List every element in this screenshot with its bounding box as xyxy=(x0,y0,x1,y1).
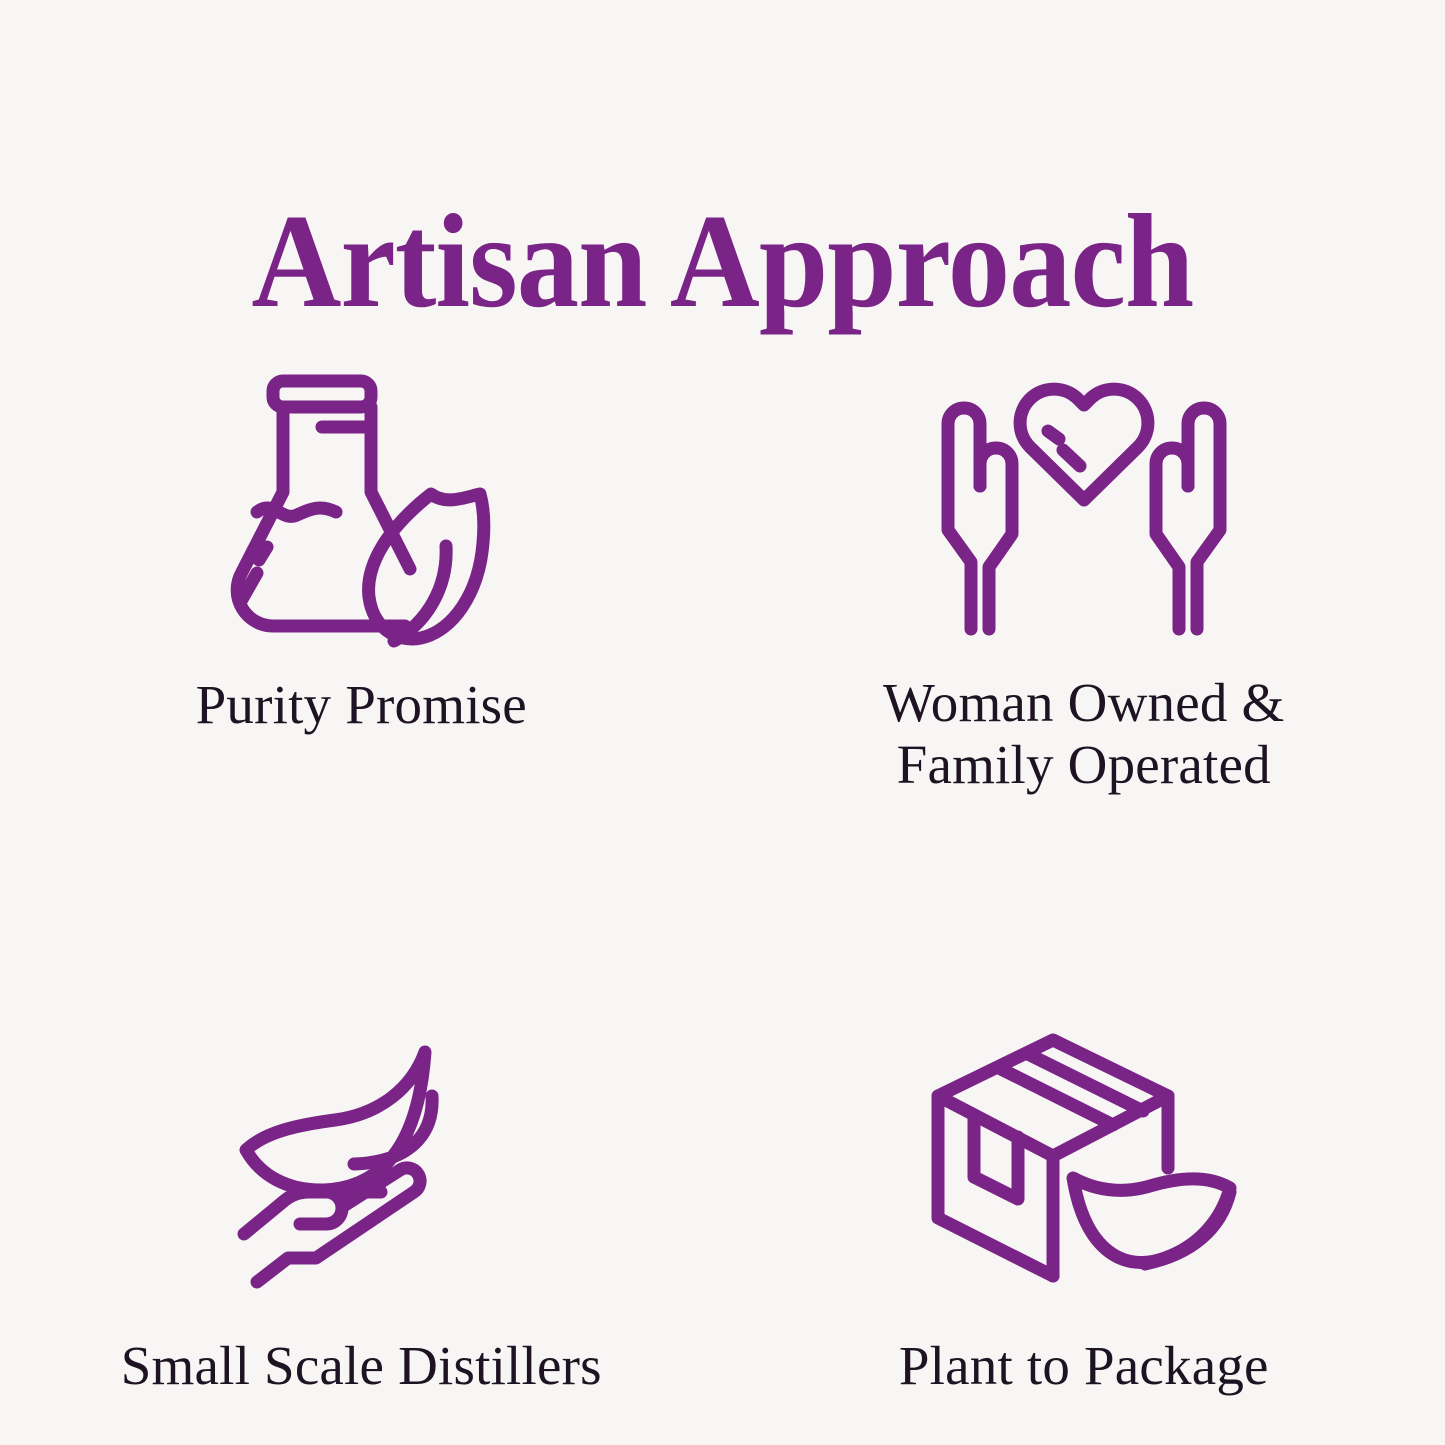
box-leaf-icon xyxy=(934,1017,1234,1295)
hand-holding-leaf-icon xyxy=(211,1017,511,1295)
artisan-approach-panel: Artisan Approach xyxy=(0,0,1445,1445)
feature-item-plant-to-package: Plant to Package xyxy=(723,795,1445,1397)
feature-label: Purity Promise xyxy=(196,674,527,736)
feature-label: Small Scale Distillers xyxy=(121,1335,602,1397)
feature-item-purity-promise: Purity Promise xyxy=(0,338,723,795)
flask-leaf-icon xyxy=(211,356,511,652)
feature-item-small-scale-distillers: Small Scale Distillers xyxy=(0,795,723,1397)
hands-holding-heart-icon xyxy=(934,356,1234,652)
feature-label: Woman Owned & Family Operated xyxy=(883,672,1284,795)
features-grid: Purity Promise xyxy=(0,338,1445,1338)
page-title: Artisan Approach xyxy=(252,194,1194,328)
feature-item-woman-owned: Woman Owned & Family Operated xyxy=(723,338,1445,795)
feature-label: Plant to Package xyxy=(899,1335,1269,1397)
